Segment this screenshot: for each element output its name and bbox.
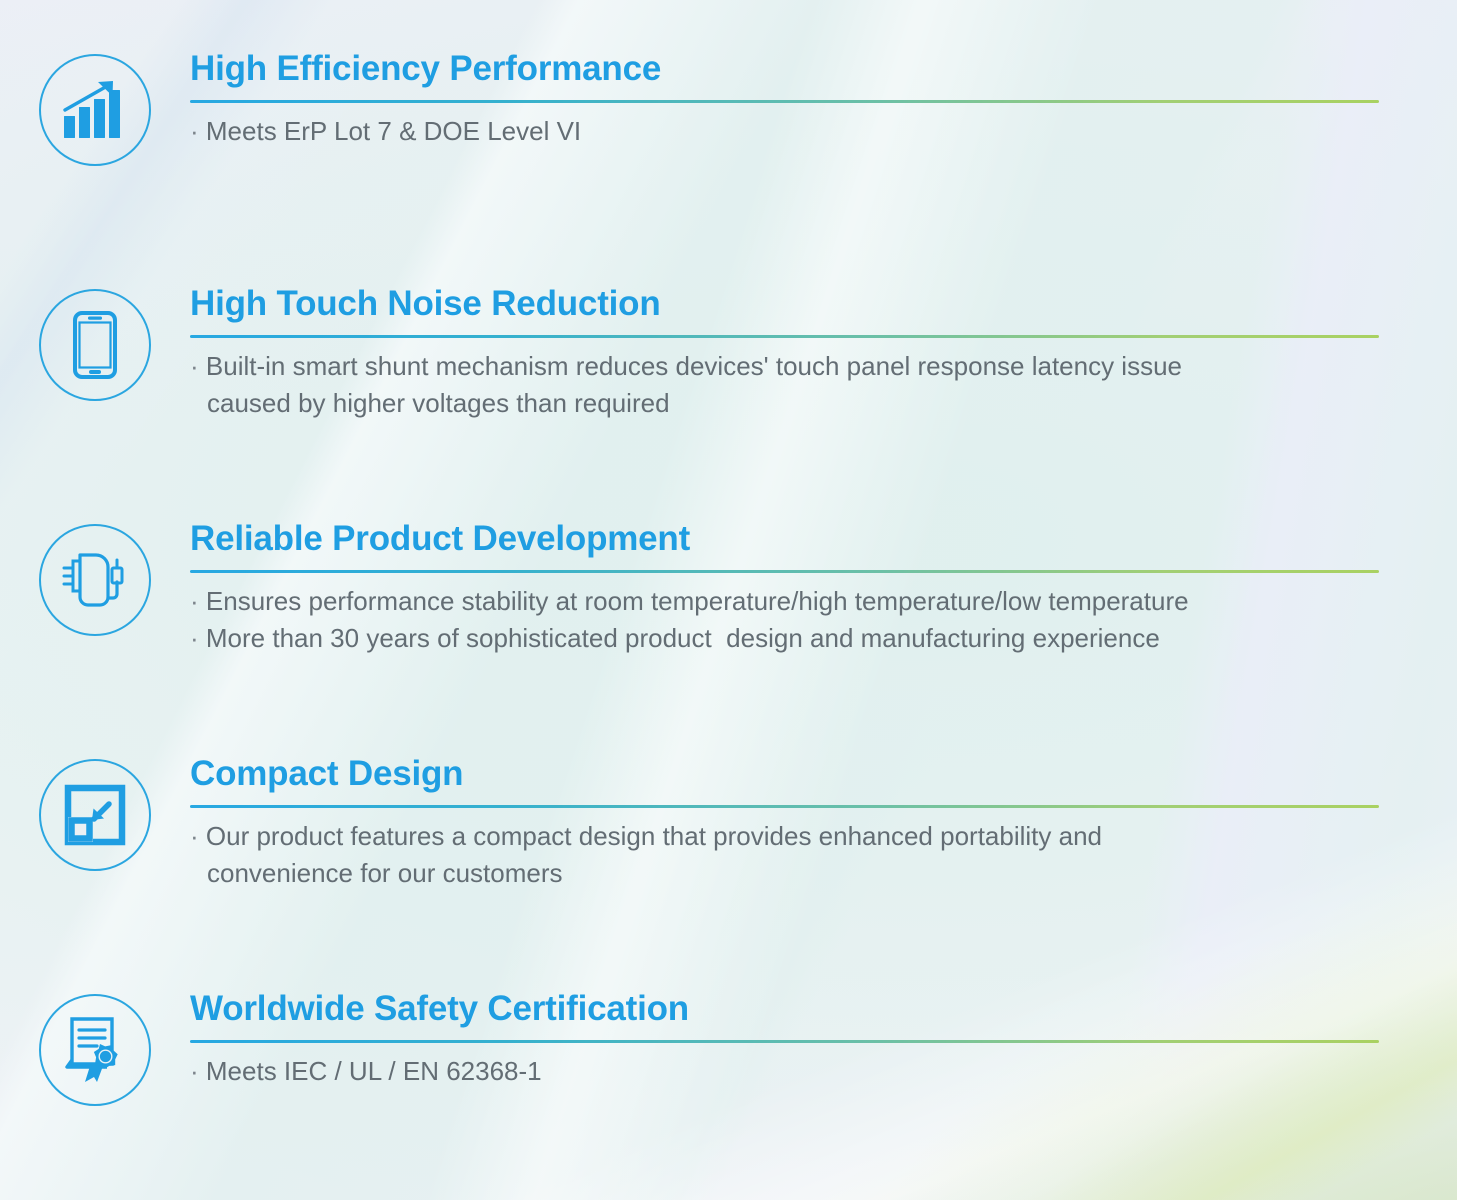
bullet-text: Meets ErP Lot 7 & DOE Level VI <box>206 116 581 146</box>
feature-body: Compact Design · Our product features a … <box>190 756 1457 892</box>
feature-item-high-touch-noise-reduction: High Touch Noise Reduction · Built-in sm… <box>0 286 1457 422</box>
feature-bullet-line: convenience for our customers <box>190 855 1379 892</box>
bullet-marker: · <box>190 116 206 146</box>
feature-body: High Touch Noise Reduction · Built-in sm… <box>190 286 1457 422</box>
feature-list-page: High Efficiency Performance · Meets ErP … <box>0 0 1457 1200</box>
power-adapter-icon <box>39 524 151 636</box>
feature-item-high-efficiency-performance: High Efficiency Performance · Meets ErP … <box>0 51 1457 166</box>
feature-title: High Efficiency Performance <box>190 51 1379 88</box>
feature-title: Compact Design <box>190 756 1379 793</box>
certificate-seal-icon <box>39 994 151 1106</box>
bullet-text: caused by higher voltages than required <box>207 388 670 418</box>
feature-item-worldwide-safety-certification: Worldwide Safety Certification · Meets I… <box>0 991 1457 1106</box>
feature-bullet-line: · Our product features a compact design … <box>190 818 1379 855</box>
bar-chart-growth-icon <box>39 54 151 166</box>
feature-bullets: · Built-in smart shunt mechanism reduces… <box>190 348 1379 422</box>
feature-bullet-line: caused by higher voltages than required <box>190 385 1379 422</box>
feature-icon-container <box>0 286 190 401</box>
feature-bullet-line: · Meets IEC / UL / EN 62368-1 <box>190 1053 1379 1090</box>
bullet-text: convenience for our customers <box>207 858 563 888</box>
feature-body: High Efficiency Performance · Meets ErP … <box>190 51 1457 150</box>
bullet-marker: · <box>190 586 206 616</box>
feature-divider <box>190 805 1379 808</box>
feature-body: Worldwide Safety Certification · Meets I… <box>190 991 1457 1090</box>
feature-icon-container <box>0 51 190 166</box>
compact-resize-icon <box>39 759 151 871</box>
feature-divider <box>190 335 1379 338</box>
feature-bullet-line: · Built-in smart shunt mechanism reduces… <box>190 348 1379 385</box>
feature-title: Reliable Product Development <box>190 521 1379 558</box>
feature-bullets: · Ensures performance stability at room … <box>190 583 1379 657</box>
feature-bullets: · Meets IEC / UL / EN 62368-1 <box>190 1053 1379 1090</box>
feature-item-reliable-product-development: Reliable Product Development · Ensures p… <box>0 521 1457 657</box>
feature-bullets: · Our product features a compact design … <box>190 818 1379 892</box>
feature-body: Reliable Product Development · Ensures p… <box>190 521 1457 657</box>
feature-item-compact-design: Compact Design · Our product features a … <box>0 756 1457 892</box>
bullet-marker: · <box>190 351 206 381</box>
bullet-text: Meets IEC / UL / EN 62368-1 <box>206 1056 542 1086</box>
feature-divider <box>190 570 1379 573</box>
feature-divider <box>190 100 1379 103</box>
bullet-marker: · <box>190 1056 206 1086</box>
feature-icon-container <box>0 521 190 636</box>
feature-bullet-line: · Ensures performance stability at room … <box>190 583 1379 620</box>
feature-bullet-line: · More than 30 years of sophisticated pr… <box>190 620 1379 657</box>
bullet-text: Ensures performance stability at room te… <box>206 586 1189 616</box>
bullet-marker: · <box>190 821 206 851</box>
feature-icon-container <box>0 756 190 871</box>
bullet-marker: · <box>190 623 206 653</box>
bullet-text: Our product features a compact design th… <box>206 821 1102 851</box>
smartphone-icon <box>39 289 151 401</box>
feature-title: High Touch Noise Reduction <box>190 286 1379 323</box>
feature-bullets: · Meets ErP Lot 7 & DOE Level VI <box>190 113 1379 150</box>
feature-bullet-line: · Meets ErP Lot 7 & DOE Level VI <box>190 113 1379 150</box>
feature-title: Worldwide Safety Certification <box>190 991 1379 1028</box>
bullet-text: More than 30 years of sophisticated prod… <box>206 623 1160 653</box>
feature-icon-container <box>0 991 190 1106</box>
feature-divider <box>190 1040 1379 1043</box>
bullet-text: Built-in smart shunt mechanism reduces d… <box>206 351 1182 381</box>
